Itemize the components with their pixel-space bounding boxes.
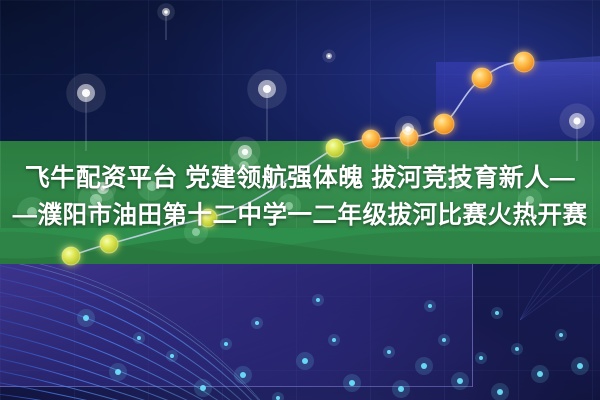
headline: 飞牛配资平台 党建领航强体魄 拔河竞技育新人— —濮阳市油田第十二中学一二年级拔… xyxy=(0,160,600,234)
banner-image: 飞牛配资平台 党建领航强体魄 拔河竞技育新人— —濮阳市油田第十二中学一二年级拔… xyxy=(0,0,600,400)
headline-line-2: —濮阳市油田第十二中学一二年级拔河比赛火热开赛 xyxy=(0,197,600,234)
glow-particles-cyan xyxy=(77,294,589,400)
headline-line-1: 飞牛配资平台 党建领航强体魄 拔河竞技育新人— xyxy=(0,160,600,197)
